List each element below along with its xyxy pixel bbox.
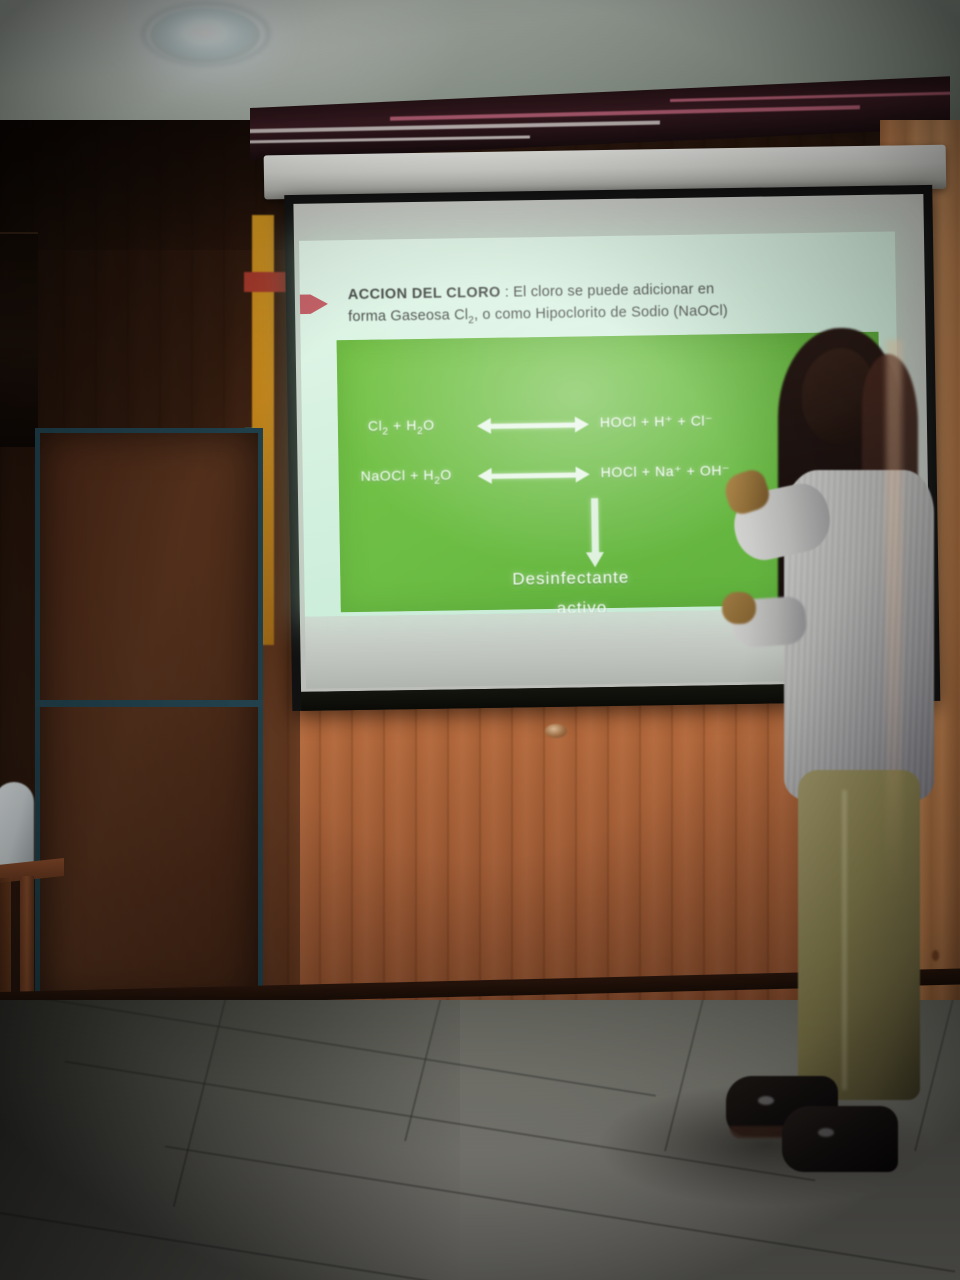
- equilibrium-arrow-icon-1: [490, 423, 576, 429]
- door-crossrail: [35, 700, 263, 707]
- eq2-reactant-b: H: [423, 467, 434, 483]
- outcome-line-1: Desinfectante: [512, 568, 629, 590]
- white-appliance: [0, 782, 34, 866]
- eq1-plus: +: [388, 417, 406, 433]
- boot-lace: [758, 1096, 774, 1105]
- eq2-reactant-b-rest: O: [440, 466, 452, 482]
- equilibrium-arrow-icon-2: [491, 473, 577, 479]
- eq1-reactant-b-rest: O: [423, 417, 435, 433]
- eq2-plus: +: [406, 467, 424, 483]
- slide-heading-l2a: forma Gaseosa Cl: [348, 308, 468, 326]
- wall-knob: [545, 724, 567, 738]
- photo-scene: ACCION DEL CLORO : El cloro se puede adi…: [0, 0, 960, 1280]
- eq1-reactant-b: H: [406, 417, 417, 433]
- rim-light: [886, 340, 902, 900]
- boot-right: [782, 1106, 898, 1172]
- eq1-reactant-a: Cl: [368, 418, 383, 434]
- slide-heading-title: ACCION DEL CLORO: [348, 285, 501, 303]
- boot-lace: [818, 1128, 834, 1137]
- ceiling-light-icon: [150, 8, 260, 62]
- equation-1-left: Cl2 + H2O: [368, 417, 435, 438]
- wall-cabinet: [0, 232, 38, 447]
- lower-hand: [722, 592, 756, 624]
- eq2-reactant-a: NaOCl: [361, 467, 406, 484]
- presenter: [690, 320, 950, 1170]
- pants-crease: [842, 790, 847, 1090]
- down-arrow-head-icon: [586, 552, 604, 567]
- floor-shadow-left: [0, 1000, 460, 1280]
- bullet-arrow-icon: [299, 290, 328, 318]
- slide-heading-rest: : El cloro se puede adicionar en: [500, 281, 714, 300]
- down-arrow-icon: [591, 498, 599, 556]
- door-panel[interactable]: [35, 428, 263, 1013]
- equation-2-left: NaOCl + H2O: [361, 466, 452, 487]
